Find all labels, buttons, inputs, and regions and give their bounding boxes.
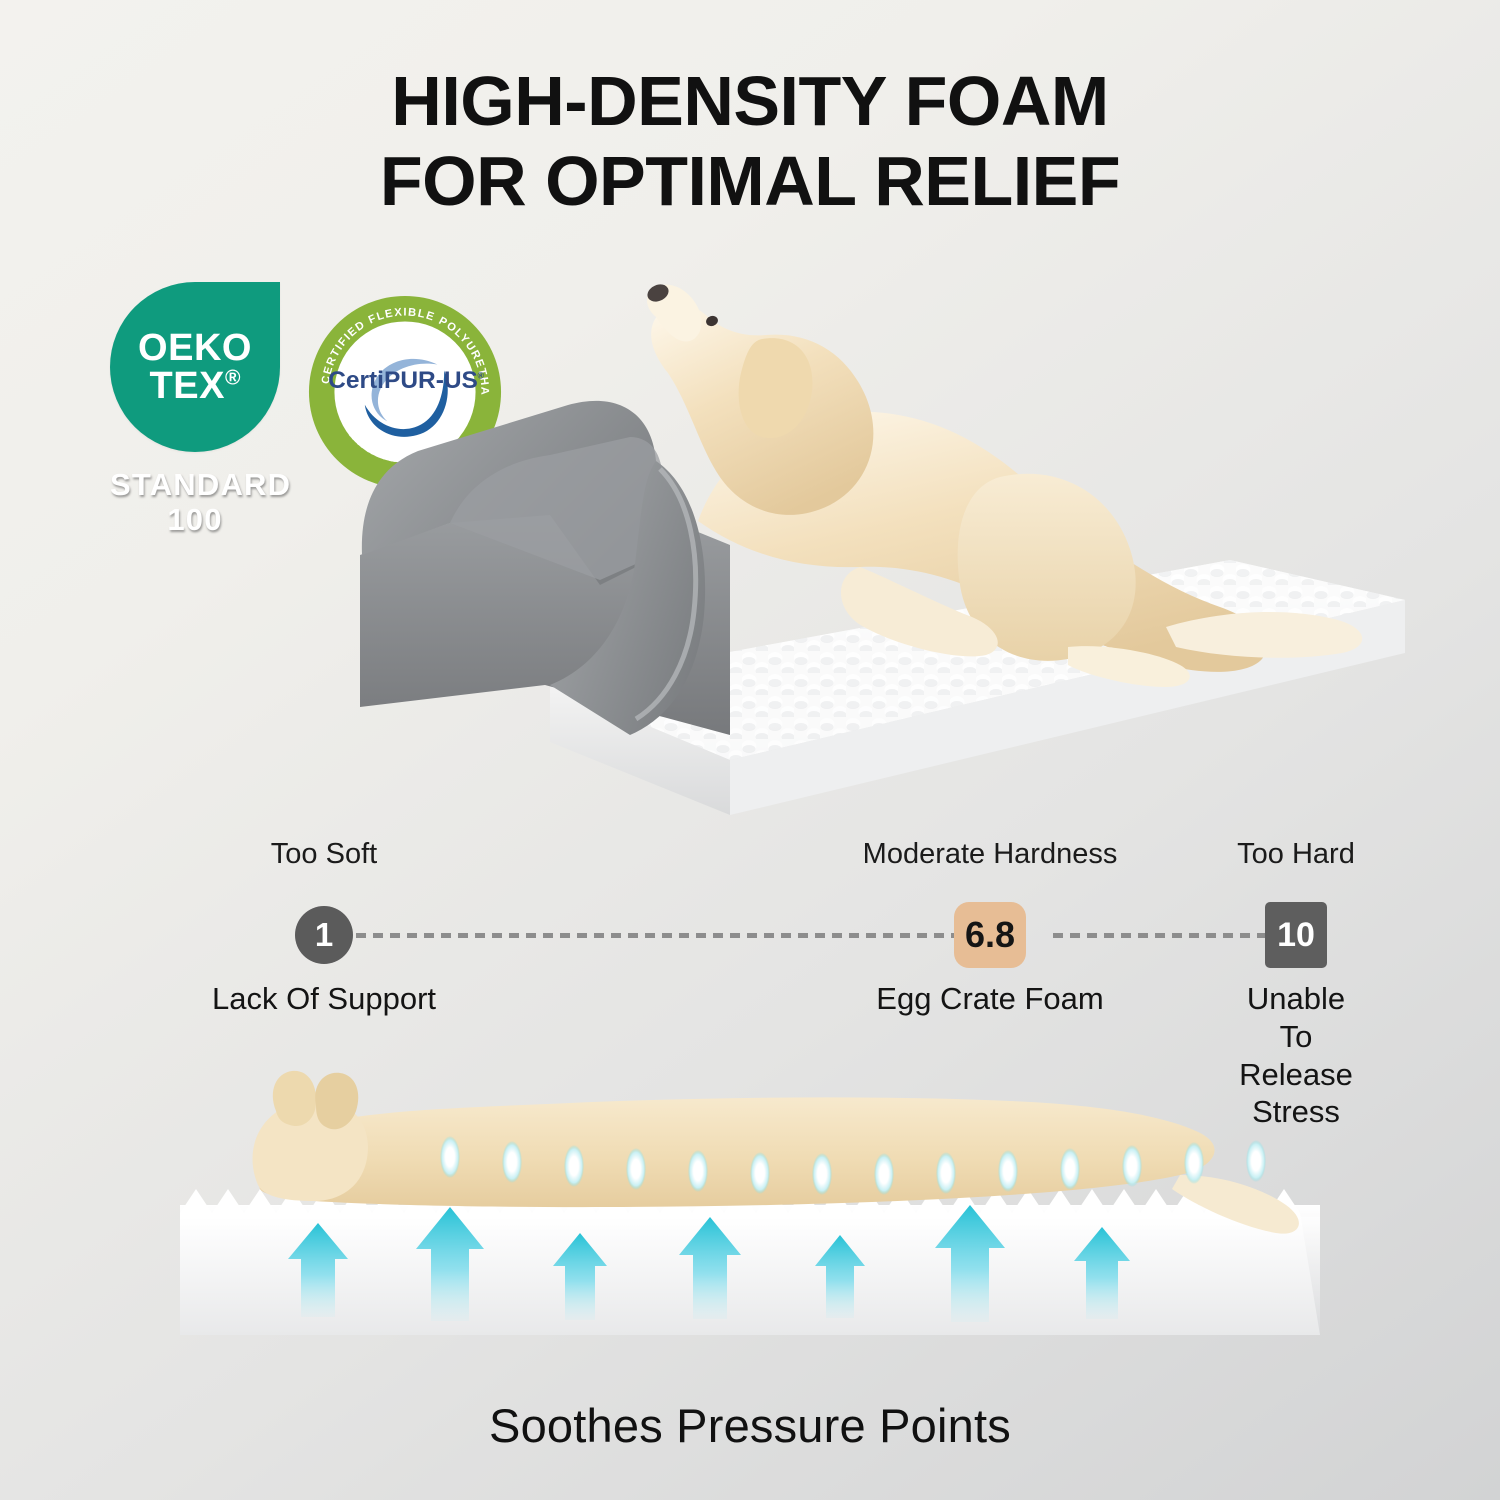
headline-line-2: FOR OPTIMAL RELIEF xyxy=(0,142,1500,222)
dog-on-bolster-bed-illustration xyxy=(300,255,1410,820)
scale-bottom-label-egg-crate-foam: Egg Crate Foam xyxy=(876,980,1103,1018)
oeko-tex-label: OEKO TEX® xyxy=(138,329,252,405)
foam-body-shade xyxy=(180,1217,1320,1335)
oeko-tex-line-1: OEKO xyxy=(138,327,252,369)
scale-top-label-too-soft: Too Soft xyxy=(271,838,377,871)
scale-marker-1-value: 1 xyxy=(315,916,333,954)
scale-top-label-moderate-hardness: Moderate Hardness xyxy=(863,838,1118,871)
pressure-dog-ear-1 xyxy=(273,1071,316,1126)
scale-dashed-line-right xyxy=(1053,933,1293,938)
headline-line-1: HIGH-DENSITY FOAM xyxy=(391,62,1108,140)
oeko-tex-line-2: TEX xyxy=(150,365,225,407)
oeko-standard-line-1: STANDARD xyxy=(110,467,291,502)
hero-product-image xyxy=(300,255,1410,820)
promo-canvas: HIGH-DENSITY FOAM FOR OPTIMAL RELIEF OEK… xyxy=(0,0,1500,1500)
pressure-points-image xyxy=(150,1035,1350,1365)
page-title: HIGH-DENSITY FOAM FOR OPTIMAL RELIEF xyxy=(0,62,1500,222)
scale-marker-10-value: 10 xyxy=(1277,916,1315,955)
oeko-tex-standard-label: STANDARD 100 xyxy=(110,468,280,537)
hardness-scale-top-labels: Too Soft Moderate Hardness Too Hard xyxy=(150,838,1350,880)
scale-marker-10: 10 xyxy=(1265,902,1327,968)
dog-on-foam-with-airflow-illustration xyxy=(150,1035,1350,1365)
oeko-tex-droplet-icon: OEKO TEX® xyxy=(110,282,280,452)
hardness-scale-track: 1 6.8 10 xyxy=(150,906,1350,964)
scale-dashed-line-left xyxy=(322,933,984,938)
oeko-standard-line-2: 100 xyxy=(167,502,222,537)
bottom-caption: Soothes Pressure Points xyxy=(0,1398,1500,1453)
oeko-tex-registered-mark: ® xyxy=(225,366,240,389)
scale-top-label-too-hard: Too Hard xyxy=(1237,838,1355,871)
scale-marker-68: 6.8 xyxy=(954,902,1026,968)
scale-marker-1: 1 xyxy=(295,906,353,964)
scale-bottom-label-lack-of-support: Lack Of Support xyxy=(212,980,436,1018)
scale-marker-68-value: 6.8 xyxy=(965,914,1015,956)
hardness-scale: Too Soft Moderate Hardness Too Hard 1 6.… xyxy=(150,838,1350,1053)
oeko-tex-badge: OEKO TEX® STANDARD 100 xyxy=(110,282,290,537)
